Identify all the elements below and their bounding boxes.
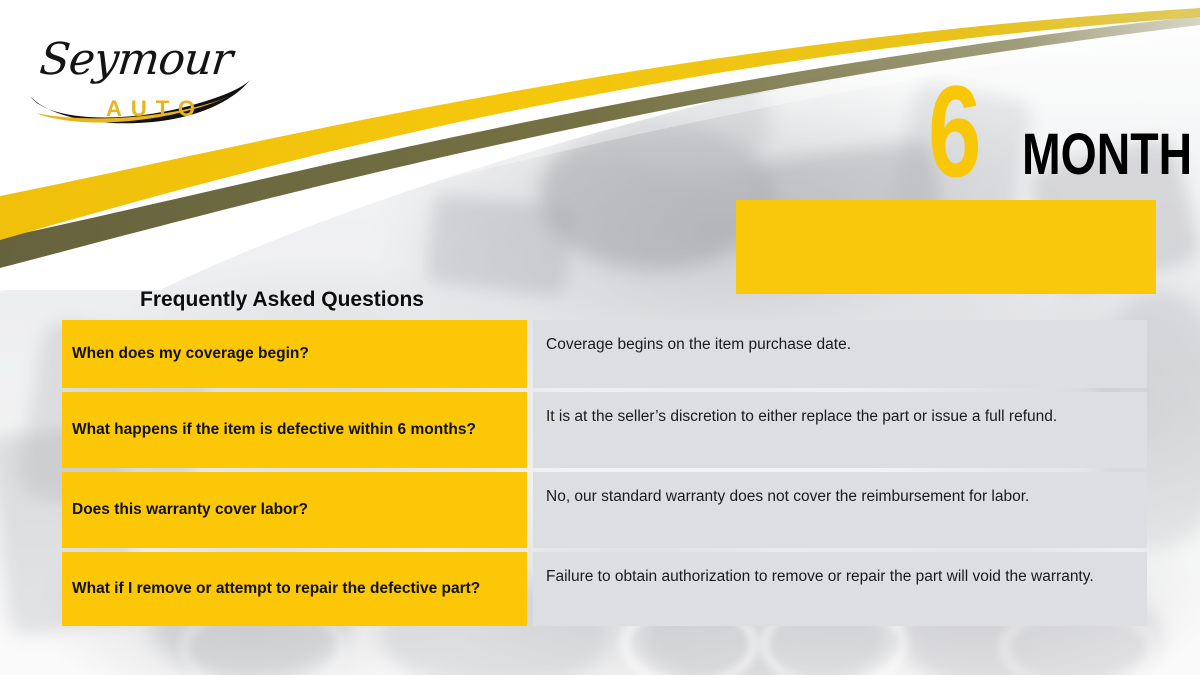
- faq-table: When does my coverage begin? Coverage be…: [62, 320, 1147, 630]
- faq-question-text: Does this warranty cover labor?: [72, 500, 308, 520]
- logo-wordmark-auto: AUTO: [106, 96, 204, 122]
- faq-row: Does this warranty cover labor? No, our …: [62, 472, 1147, 548]
- faq-row: What happens if the item is defective wi…: [62, 392, 1147, 468]
- faq-answer-text: Coverage begins on the item purchase dat…: [546, 334, 1135, 356]
- standard-warranty-banner: STANDARD WARRANTY: [736, 200, 1156, 294]
- faq-question-text: What if I remove or attempt to repair th…: [72, 579, 480, 599]
- faq-question-text: What happens if the item is defective wi…: [72, 420, 476, 440]
- faq-answer-text: No, our standard warranty does not cover…: [546, 486, 1135, 508]
- company-logo: Seymour AUTO: [18, 18, 258, 128]
- warranty-duration-number: 6: [928, 72, 980, 190]
- faq-answer-cell: Coverage begins on the item purchase dat…: [533, 320, 1147, 388]
- faq-answer-cell: It is at the seller’s discretion to eith…: [533, 392, 1147, 468]
- faq-row: When does my coverage begin? Coverage be…: [62, 320, 1147, 388]
- faq-question-cell[interactable]: What happens if the item is defective wi…: [62, 392, 527, 468]
- faq-question-cell[interactable]: What if I remove or attempt to repair th…: [62, 552, 527, 626]
- faq-row: What if I remove or attempt to repair th…: [62, 552, 1147, 626]
- faq-question-text: When does my coverage begin?: [72, 344, 309, 364]
- warranty-duration-unit: MONTH: [1022, 126, 1192, 184]
- faq-question-cell[interactable]: Does this warranty cover labor?: [62, 472, 527, 548]
- faq-question-cell[interactable]: When does my coverage begin?: [62, 320, 527, 388]
- faq-answer-cell: Failure to obtain authorization to remov…: [533, 552, 1147, 626]
- faq-answer-text: It is at the seller’s discretion to eith…: [546, 406, 1135, 428]
- faq-section-title: Frequently Asked Questions: [140, 288, 424, 312]
- logo-wordmark-seymour: Seymour: [37, 34, 234, 85]
- faq-answer-text: Failure to obtain authorization to remov…: [546, 566, 1135, 588]
- slide-canvas: Seymour AUTO 6 MONTH STANDARD WARRANTY F…: [0, 0, 1200, 675]
- faq-answer-cell: No, our standard warranty does not cover…: [533, 472, 1147, 548]
